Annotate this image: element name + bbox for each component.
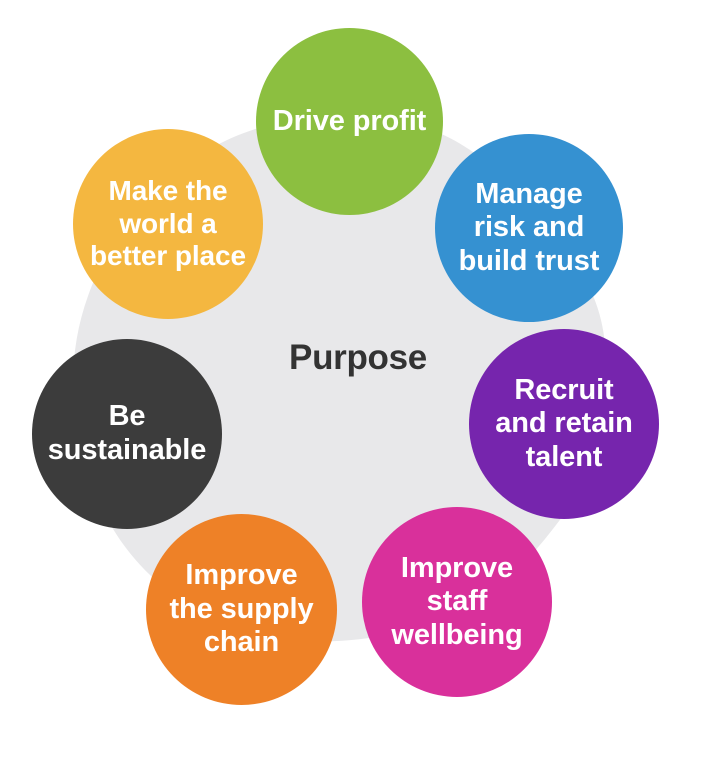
node-manage-risk-label: Manage risk and build trust	[449, 178, 610, 279]
node-better-place[interactable]: Make the world a better place	[73, 129, 263, 319]
node-supply-chain[interactable]: Improve the supply chain	[146, 514, 337, 705]
center-label-text: Purpose	[289, 338, 427, 378]
node-staff-wellbeing-label: Improve staff wellbeing	[381, 552, 532, 653]
node-recruit-talent-label: Recruit and retain talent	[485, 374, 643, 475]
node-staff-wellbeing[interactable]: Improve staff wellbeing	[362, 507, 552, 697]
node-supply-chain-label: Improve the supply chain	[159, 559, 323, 660]
node-better-place-label: Make the world a better place	[80, 175, 256, 272]
node-manage-risk[interactable]: Manage risk and build trust	[435, 134, 623, 322]
purpose-diagram: Drive profit Manage risk and build trust…	[0, 0, 720, 767]
node-drive-profit[interactable]: Drive profit	[256, 28, 443, 215]
center-label: Purpose	[0, 338, 720, 378]
node-be-sustainable-label: Be sustainable	[38, 400, 216, 467]
node-drive-profit-label: Drive profit	[263, 105, 437, 139]
